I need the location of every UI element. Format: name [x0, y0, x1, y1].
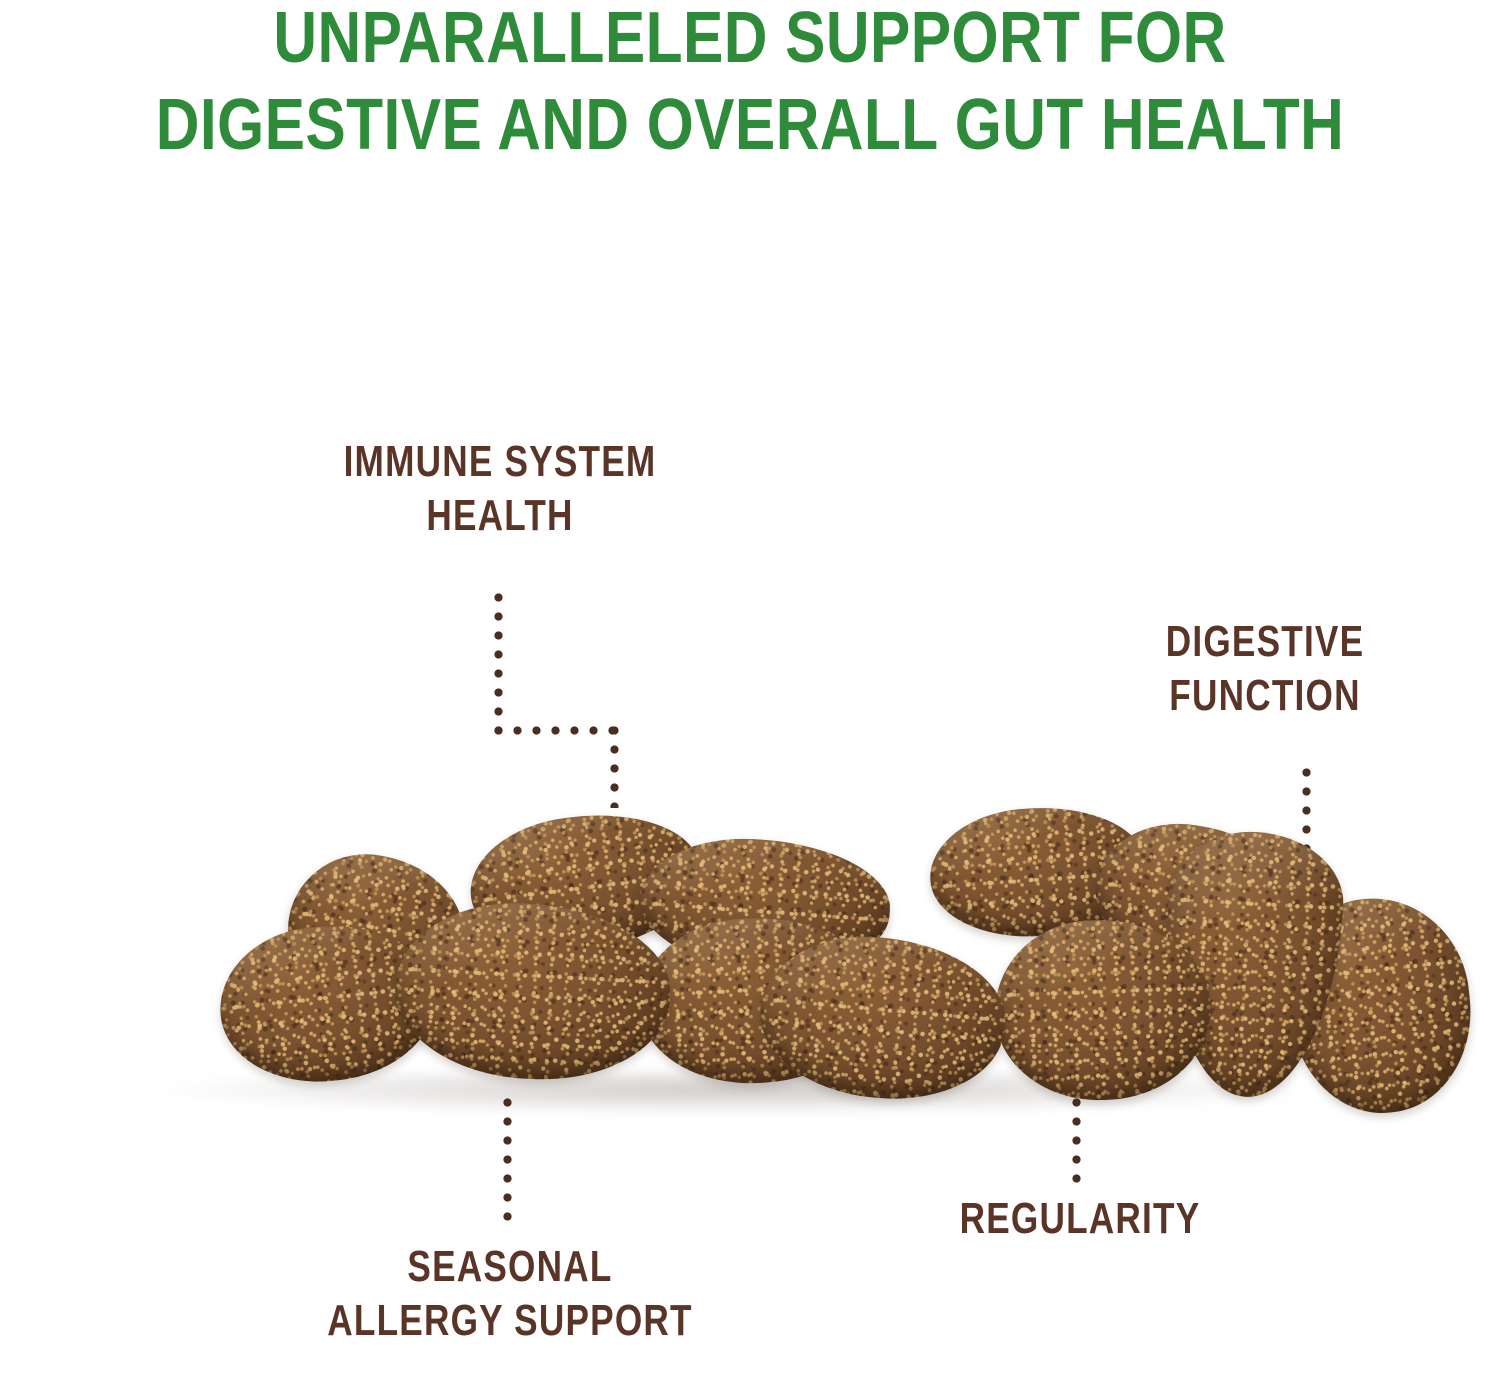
callout-label-regularity: REGULARITY: [904, 1192, 1256, 1246]
connector-immune-segment-horizontal: [494, 726, 619, 735]
callout-label-seasonal-allergy-support: SEASONAL ALLERGY SUPPORT: [246, 1240, 774, 1347]
callout-allergy-line-1: SEASONAL: [246, 1240, 774, 1294]
page-title: UNPARALLELED SUPPORT FOR DIGESTIVE AND O…: [0, 4, 1500, 160]
callout-regularity-line-1: REGULARITY: [904, 1192, 1256, 1246]
headline-line-2: DIGESTIVE AND OVERALL GUT HEALTH: [120, 91, 1380, 160]
callout-label-digestive-function: DIGESTIVE FUNCTION: [1097, 615, 1433, 722]
connector-allergy-segment-vertical: [503, 1098, 512, 1226]
connector-immune-segment-vertical-top: [494, 593, 503, 735]
connector-regularity-segment-vertical: [1072, 1098, 1081, 1190]
callout-digestive-line-1: DIGESTIVE: [1097, 615, 1433, 669]
callout-immune-line-1: IMMUNE SYSTEM: [244, 435, 756, 489]
infographic-canvas: UNPARALLELED SUPPORT FOR DIGESTIVE AND O…: [0, 0, 1500, 1373]
connector-immune-segment-vertical-bottom: [610, 726, 619, 808]
callout-immune-line-2: HEALTH: [244, 489, 756, 543]
callout-allergy-line-2: ALLERGY SUPPORT: [246, 1294, 774, 1348]
callout-digestive-line-2: FUNCTION: [1097, 669, 1433, 723]
kibble-pile-image: [140, 808, 1370, 1108]
headline-line-1: UNPARALLELED SUPPORT FOR: [120, 4, 1380, 73]
callout-label-immune-system-health: IMMUNE SYSTEM HEALTH: [244, 435, 756, 542]
